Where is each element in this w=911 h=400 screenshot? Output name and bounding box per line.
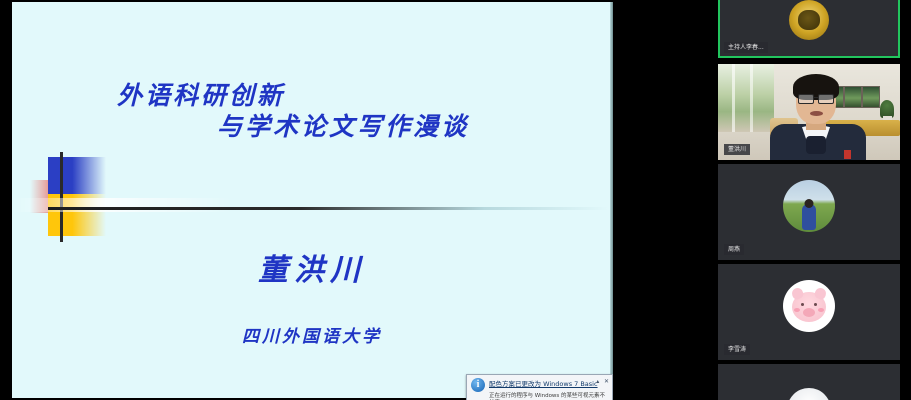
participant-filmstrip[interactable]: 主持人李春...	[700, 0, 911, 400]
toast-title[interactable]: 配色方案已更改为 Windows 7 Basic	[489, 378, 598, 392]
pig-eye-right	[814, 303, 817, 306]
participant-tile-speaker[interactable]: 董洪川	[718, 64, 900, 160]
pig-blush-left	[794, 308, 800, 312]
glasses-icon	[798, 94, 834, 102]
toast-body-line1: 正在运行的程序与 Windows 的某些可视元素不兼容。	[467, 392, 612, 400]
pig-avatar-icon	[792, 292, 826, 322]
slide-decoration	[30, 152, 230, 242]
participant-tile-5[interactable]	[718, 364, 900, 400]
toast-minimize-icon[interactable]: ▴	[596, 379, 599, 385]
pig-ear-left	[790, 286, 804, 300]
meeting-screen: 外语科研创新 与学术论文写作漫谈 董洪川 四川外国语大学 ▴ ✕ i	[0, 0, 911, 400]
pig-ear-right	[813, 286, 827, 300]
slide-author: 董洪川	[12, 245, 612, 289]
background-artwork	[844, 86, 862, 108]
participant-name-label: 李雪涛	[724, 344, 750, 355]
decoration-vertical-line	[60, 152, 63, 242]
avatar	[783, 280, 835, 332]
avatar	[783, 180, 835, 232]
avatar-person-head	[805, 199, 814, 208]
pig-eye-left	[801, 303, 804, 306]
participant-tile-4[interactable]: 李雪涛	[718, 264, 900, 360]
slide-right-edge	[610, 2, 613, 398]
avatar	[789, 0, 829, 40]
windows-notification-toast[interactable]: ▴ ✕ i 配色方案已更改为 Windows 7 Basic 正在运行的程序与 …	[466, 374, 613, 400]
slide-title-line2: 与学术论文写作漫谈	[217, 111, 612, 142]
participant-tile-3[interactable]: 周燕	[718, 164, 900, 260]
pig-snout	[803, 308, 815, 317]
background-window	[718, 64, 774, 132]
participant-name-label: 董洪川	[724, 144, 750, 155]
participant-tile-host[interactable]: 主持人李春...	[718, 0, 900, 58]
avatar-face-icon	[798, 10, 820, 30]
person-lapel-badge	[844, 150, 851, 159]
participant-name-label: 周燕	[724, 244, 744, 255]
toast-controls[interactable]: ▴ ✕	[593, 378, 609, 385]
shared-screen-area[interactable]: 外语科研创新 与学术论文写作漫谈 董洪川 四川外国语大学 ▴ ✕ i	[0, 0, 700, 400]
slide-title: 外语科研创新 与学术论文写作漫谈	[12, 80, 612, 143]
person-sweater	[806, 136, 826, 154]
participant-name-label: 主持人李春...	[724, 42, 768, 53]
close-icon[interactable]: ✕	[604, 379, 609, 385]
slide-affiliation: 四川外国语大学	[12, 322, 612, 347]
slide-title-line1: 外语科研创新	[117, 80, 612, 111]
presentation-slide[interactable]: 外语科研创新 与学术论文写作漫谈 董洪川 四川外国语大学	[12, 2, 612, 398]
person-mouth	[810, 111, 823, 116]
avatar	[787, 388, 831, 400]
toast-header: i 配色方案已更改为 Windows 7 Basic	[467, 375, 612, 392]
background-artwork	[862, 86, 880, 108]
pig-blush-right	[818, 308, 824, 312]
info-icon: i	[471, 378, 485, 392]
avatar-person-body	[802, 204, 816, 230]
decoration-horizontal-rule	[48, 207, 608, 210]
